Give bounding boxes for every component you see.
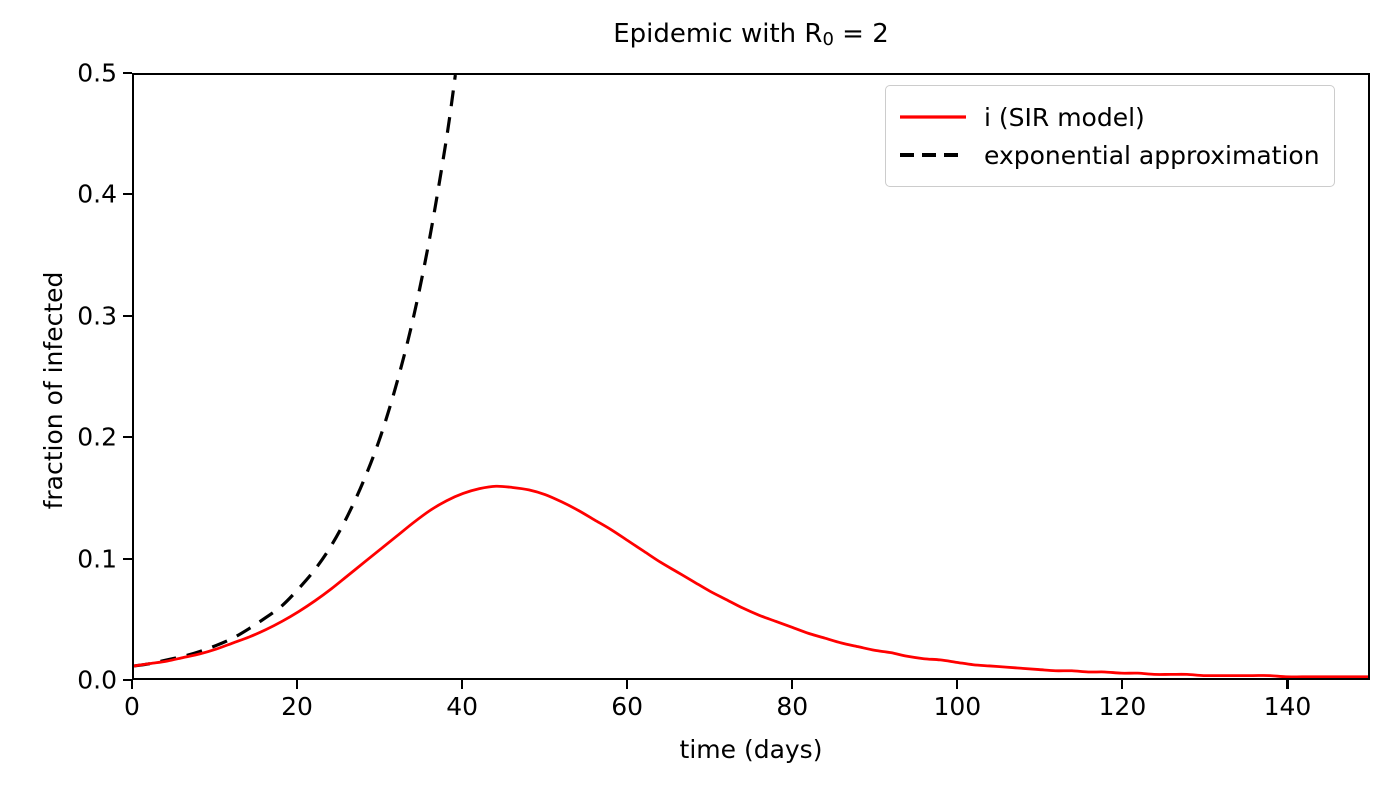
- y-tick-mark: [123, 558, 132, 560]
- x-tick-label: 20: [281, 692, 313, 721]
- chart-title-tail: = 2: [834, 19, 889, 49]
- x-tick-mark: [1286, 680, 1288, 689]
- y-tick-mark: [123, 315, 132, 317]
- legend-label-sir: i (SIR model): [984, 103, 1145, 132]
- y-tick-label: 0.2: [77, 423, 117, 452]
- legend-item-sir: i (SIR model): [898, 98, 1320, 136]
- y-axis-label: fraction of infected: [39, 87, 68, 694]
- legend-swatch-dashed-line-icon: [898, 145, 968, 165]
- x-tick-label: 0: [124, 692, 140, 721]
- y-tick-mark: [123, 436, 132, 438]
- x-tick-label: 60: [611, 692, 643, 721]
- legend-swatch-solid-line-icon: [898, 107, 968, 127]
- legend-label-exponential: exponential approximation: [984, 141, 1320, 170]
- x-tick-mark: [1121, 680, 1123, 689]
- chart-legend: i (SIR model) exponential approximation: [885, 85, 1335, 187]
- y-tick-mark: [123, 679, 132, 681]
- x-tick-label: 100: [933, 692, 981, 721]
- x-tick-mark: [131, 680, 133, 689]
- y-tick-label: 0.5: [77, 59, 117, 88]
- chart-title: Epidemic with R0 = 2: [132, 20, 1370, 49]
- x-tick-label: 140: [1264, 692, 1312, 721]
- x-tick-mark: [791, 680, 793, 689]
- x-tick-label: 80: [776, 692, 808, 721]
- x-tick-mark: [461, 680, 463, 689]
- y-tick-mark: [123, 72, 132, 74]
- y-tick-label: 0.3: [77, 301, 117, 330]
- y-tick-mark: [123, 193, 132, 195]
- chart-title-subscript: 0: [822, 29, 833, 50]
- series-line-exponential-approximation: [134, 75, 455, 666]
- y-tick-label: 0.1: [77, 544, 117, 573]
- y-tick-label: 0.0: [77, 666, 117, 695]
- matplotlib-figure: Epidemic with R0 = 2 020406080100120140 …: [0, 0, 1400, 800]
- y-tick-label: 0.4: [77, 180, 117, 209]
- x-tick-mark: [626, 680, 628, 689]
- x-tick-mark: [956, 680, 958, 689]
- chart-title-main: Epidemic with R: [613, 19, 822, 49]
- x-axis-label: time (days): [132, 735, 1370, 764]
- x-tick-label: 40: [446, 692, 478, 721]
- x-tick-mark: [296, 680, 298, 689]
- legend-item-exponential: exponential approximation: [898, 136, 1320, 174]
- x-tick-label: 120: [1099, 692, 1147, 721]
- series-line-i-sir-model: [134, 486, 1368, 677]
